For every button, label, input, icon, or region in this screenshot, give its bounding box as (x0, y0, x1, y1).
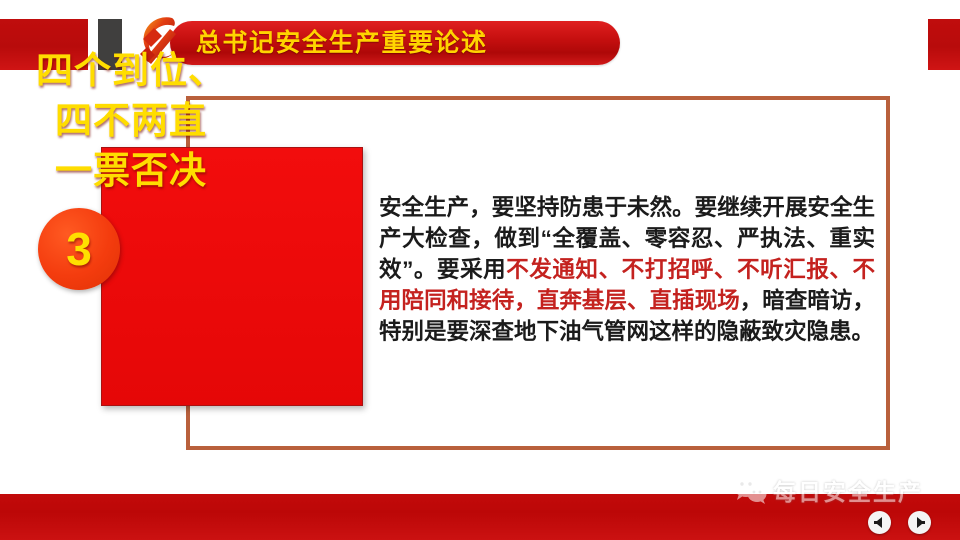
slide-number-label: 3 (38, 208, 120, 290)
heading-line-1: 四个到位、 (0, 46, 262, 96)
next-slide-button[interactable] (908, 511, 931, 534)
header-right-red-block (928, 19, 960, 70)
arrow-left-icon (872, 515, 887, 530)
slide-canvas: 总书记安全生产重要论述 四个到位、 四不两直 一票否决 3 安全生产，要坚持防患… (0, 0, 960, 540)
watermark-text: 每日安全生产 (773, 473, 923, 507)
prev-slide-button[interactable] (868, 511, 891, 534)
arrow-right-icon (912, 515, 927, 530)
heading-line-2: 四不两直 (0, 96, 262, 146)
body-paragraph: 安全生产，要坚持防患于未然。要继续开展安全生产大检查，做到“全覆盖、零容忍、严执… (379, 192, 875, 347)
heading-line-3: 一票否决 (0, 146, 262, 196)
wechat-icon (733, 475, 767, 505)
watermark: 每日安全生产 (733, 473, 923, 507)
heading-text: 四个到位、 四不两直 一票否决 (0, 46, 262, 196)
